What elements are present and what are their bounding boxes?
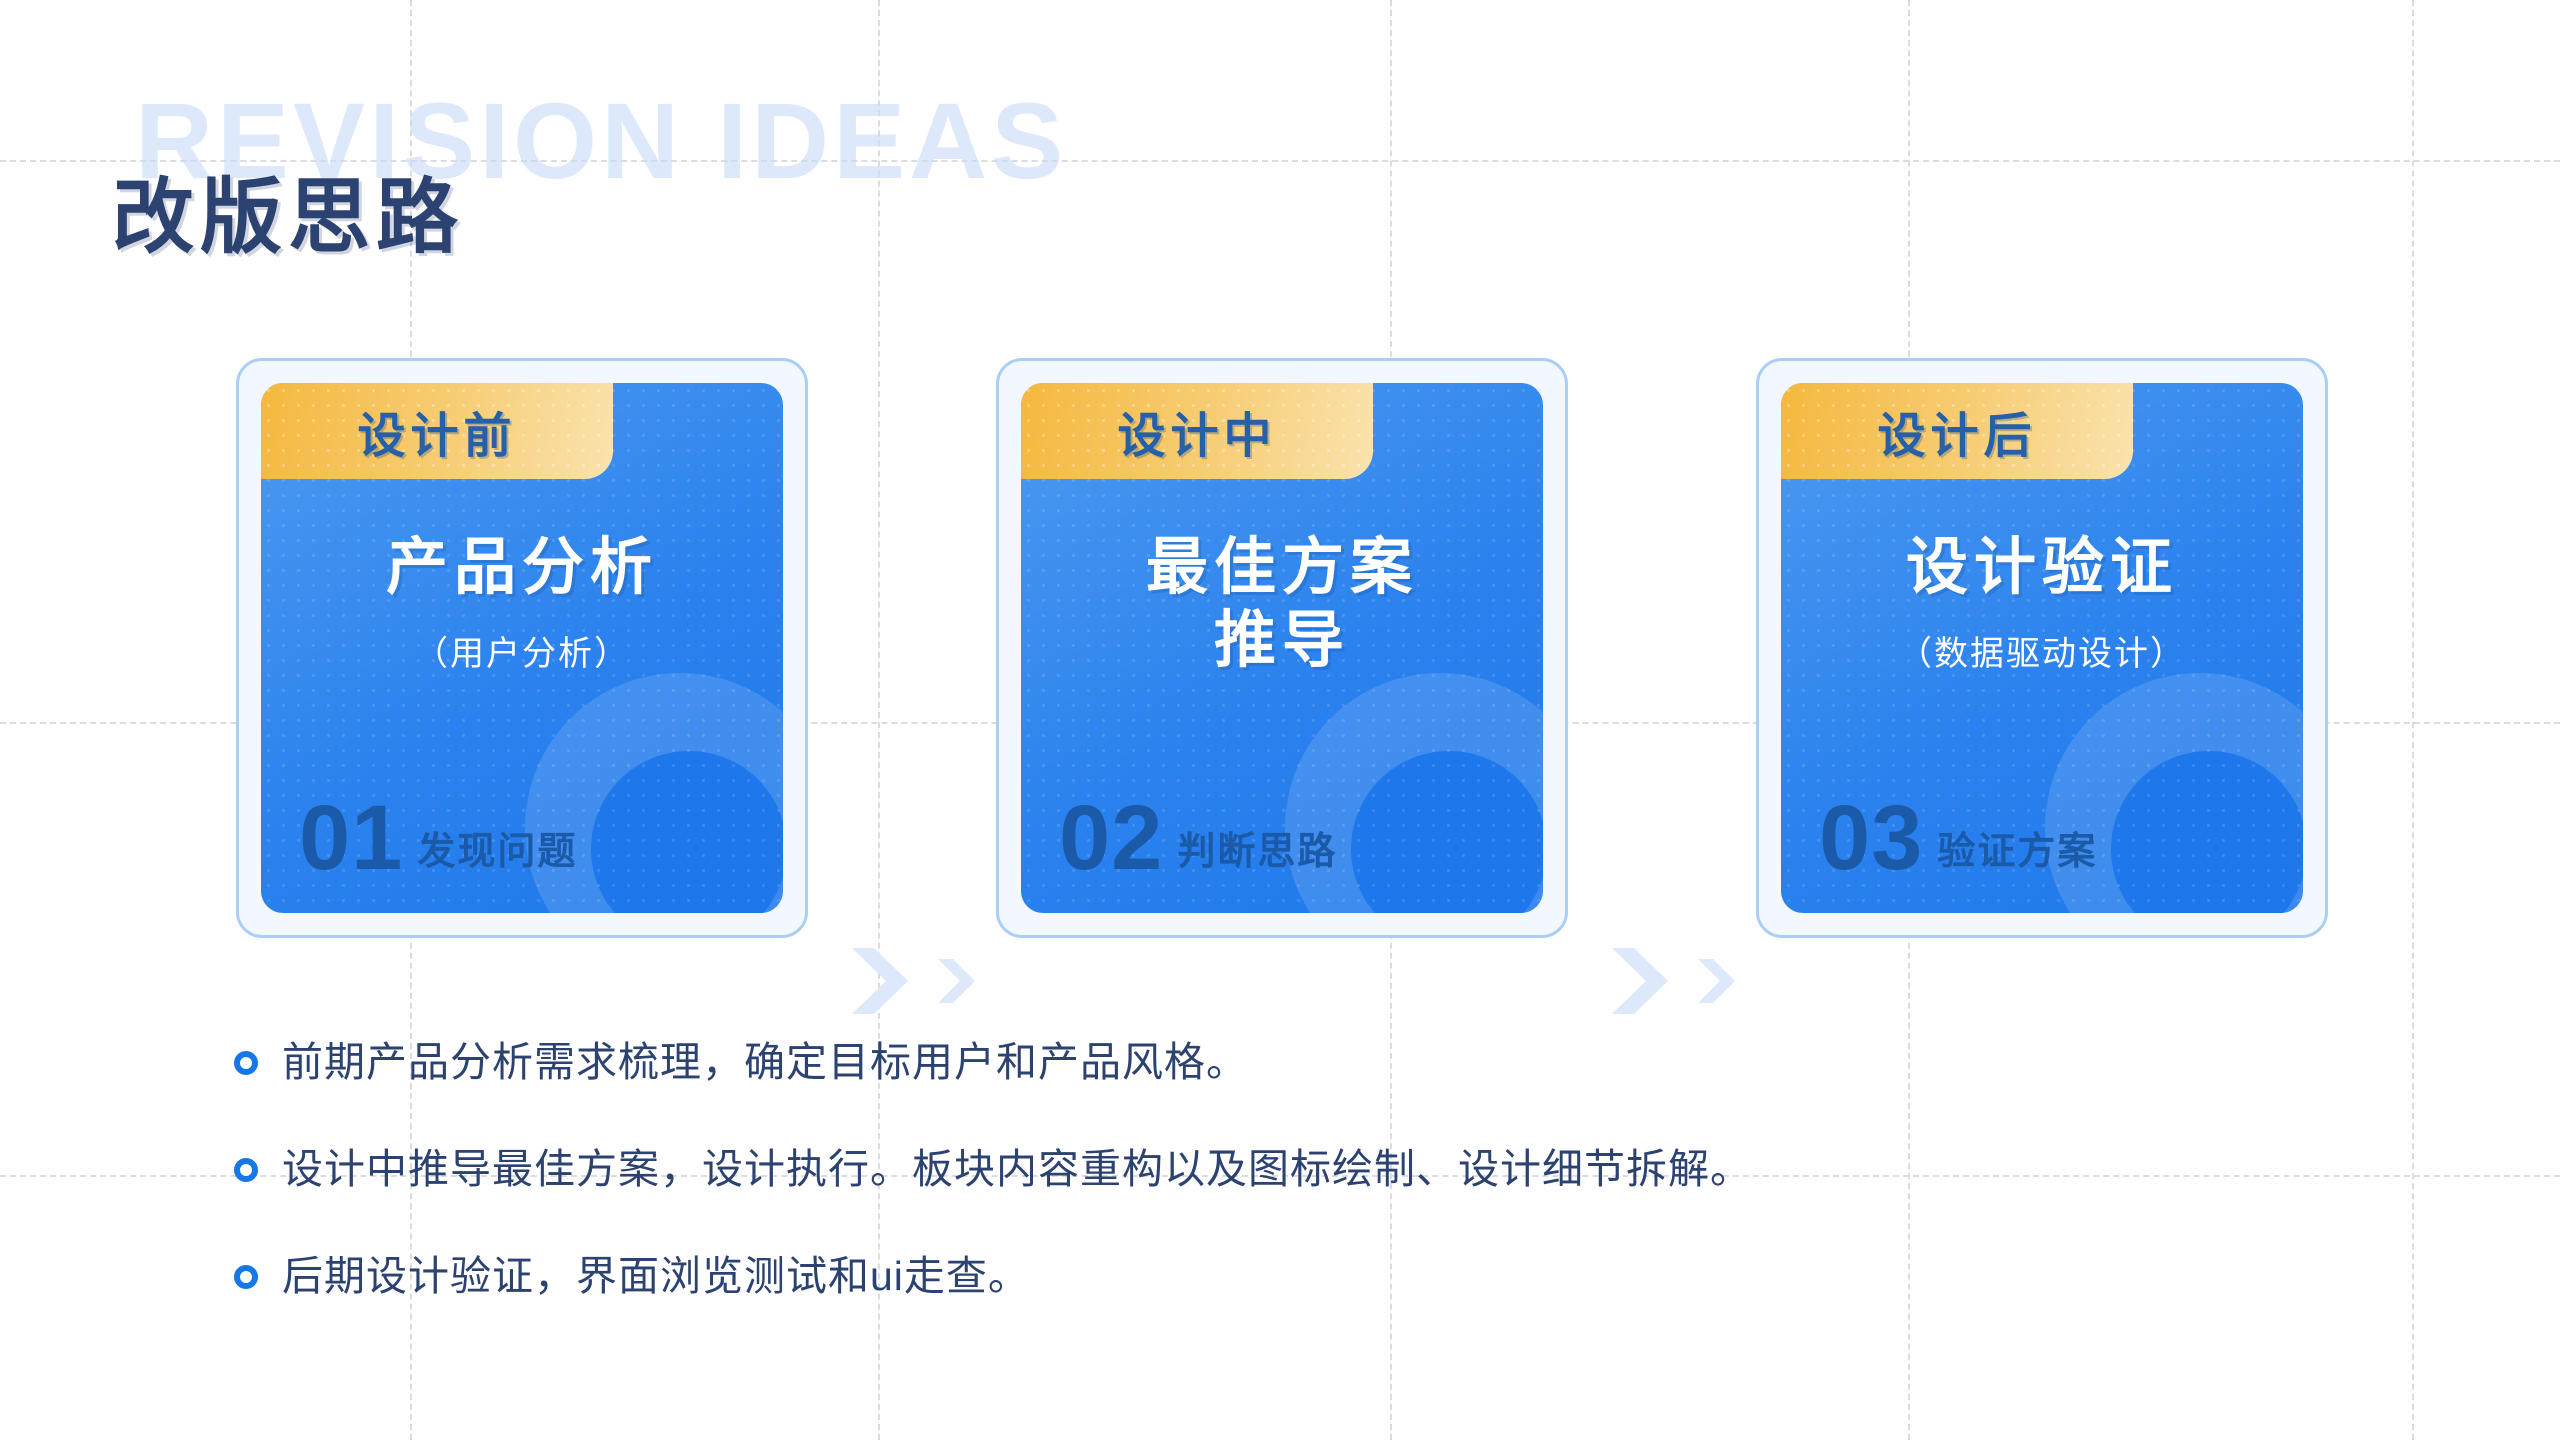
list-item-text: 设计中推导最佳方案，设计执行。板块内容重构以及图标绘制、设计细节拆解。 [282,1145,1752,1194]
process-card-3-body: 设计后 设计验证 （数据驱动设计） 03 验证方案 [1781,383,2303,913]
process-card-3-content: 设计验证 （数据驱动设计） 03 验证方案 [1781,479,2303,913]
chevron-right-icon [846,944,910,1018]
process-card-1[interactable]: 设计前 产品分析 （用户分析） 01 发现问题 [236,358,808,938]
chevron-right-small-icon [934,956,974,1006]
list-item-text: 后期设计验证，界面浏览测试和ui走查。 [282,1252,1030,1301]
process-card-2-heading-line2: 推导 [1051,604,1513,677]
page-title: 改版思路 [112,150,464,269]
connector-arrow-2 [1606,944,1734,1018]
list-item: 后期设计验证，界面浏览测试和ui走查。 [234,1252,1752,1301]
bullet-ring-icon [234,1265,258,1289]
process-card-2-footer: 02 判断思路 [1051,798,1513,883]
process-card-2-content: 最佳方案 推导 02 判断思路 [1021,479,1543,913]
list-item-text: 前期产品分析需求梳理，确定目标用户和产品风格。 [282,1038,1248,1087]
bullet-ring-icon [234,1051,258,1075]
process-card-1-footer: 01 发现问题 [291,798,753,883]
process-card-3-subtitle: （数据驱动设计） [1811,626,2273,675]
process-card-2-note: 判断思路 [1177,833,1337,879]
process-card-2-tab: 设计中 [1021,383,1373,479]
process-card-1-number: 01 [299,798,403,879]
process-card-3-tab-label: 设计后 [1877,396,2036,466]
process-card-2-tab-label: 设计中 [1117,396,1276,466]
process-card-2[interactable]: 设计中 最佳方案 推导 02 判断思路 [996,358,1568,938]
chevron-right-small-icon [1694,956,1734,1006]
process-card-2-heading-line1: 最佳方案 [1051,531,1513,604]
process-card-3[interactable]: 设计后 设计验证 （数据驱动设计） 03 验证方案 [1756,358,2328,938]
process-card-1-content: 产品分析 （用户分析） 01 发现问题 [261,479,783,913]
chevron-right-icon [1606,944,1670,1018]
process-card-3-number: 03 [1819,798,1923,879]
process-card-3-heading: 设计验证 [1811,531,2273,604]
process-card-1-tab: 设计前 [261,383,613,479]
process-card-1-subtitle: （用户分析） [291,626,753,675]
process-card-1-note: 发现问题 [417,833,577,879]
process-cards-row: 设计前 产品分析 （用户分析） 01 发现问题 设计中 [0,358,2560,958]
list-item: 前期产品分析需求梳理，确定目标用户和产品风格。 [234,1038,1752,1087]
list-item: 设计中推导最佳方案，设计执行。板块内容重构以及图标绘制、设计细节拆解。 [234,1145,1752,1194]
process-card-3-footer: 03 验证方案 [1811,798,2273,883]
description-list: 前期产品分析需求梳理，确定目标用户和产品风格。 设计中推导最佳方案，设计执行。板… [234,1038,1752,1302]
connector-arrow-1 [846,944,974,1018]
process-card-2-heading: 最佳方案 推导 [1051,531,1513,677]
process-card-1-body: 设计前 产品分析 （用户分析） 01 发现问题 [261,383,783,913]
process-card-3-tab: 设计后 [1781,383,2133,479]
process-card-1-tab-label: 设计前 [357,396,516,466]
process-card-2-body: 设计中 最佳方案 推导 02 判断思路 [1021,383,1543,913]
bullet-ring-icon [234,1158,258,1182]
process-card-3-note: 验证方案 [1937,833,2097,879]
process-card-2-number: 02 [1059,798,1163,879]
process-card-1-heading: 产品分析 [291,531,753,604]
